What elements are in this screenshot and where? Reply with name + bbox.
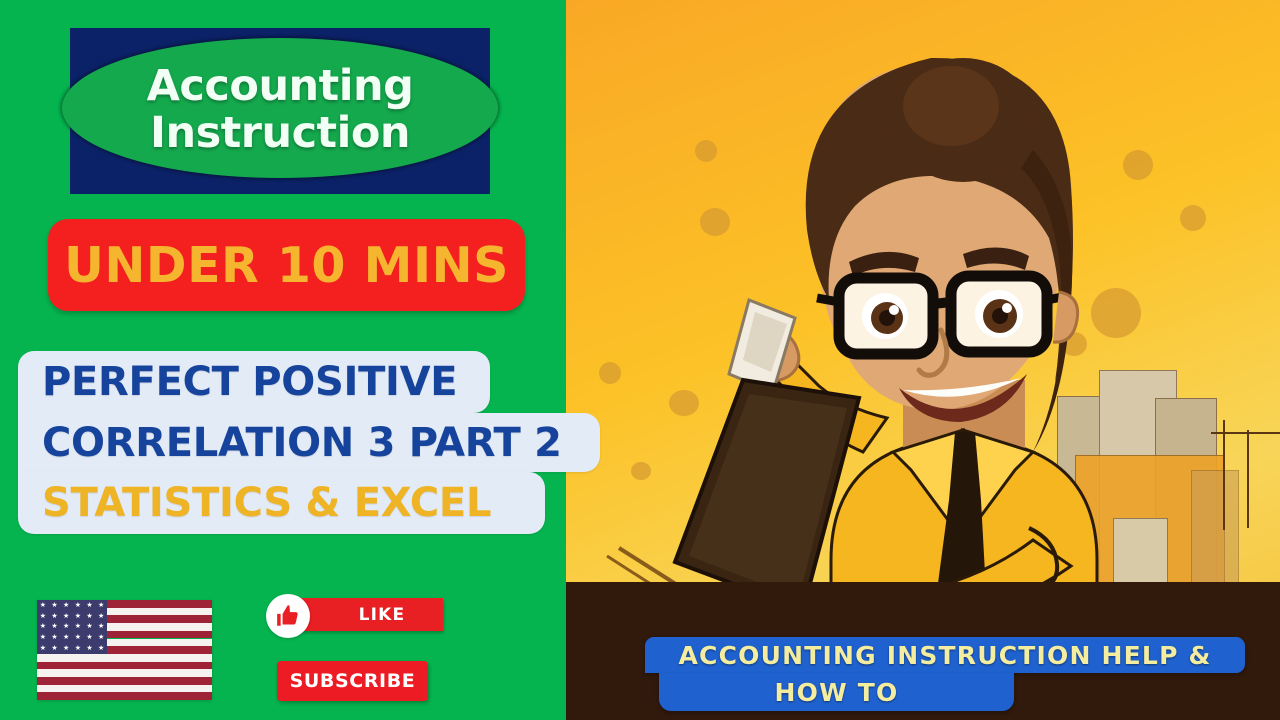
- flag-star: ★: [75, 645, 81, 652]
- subscribe-button[interactable]: SUBSCRIBE: [277, 661, 428, 701]
- title-line-1: PERFECT POSITIVE: [42, 359, 457, 405]
- flag-star: ★: [63, 602, 69, 609]
- flag-star: ★: [75, 613, 81, 620]
- flag-star: ★: [51, 613, 57, 620]
- flag-star: ★: [86, 634, 92, 641]
- thumbnail-canvas: Accounting Instruction UNDER 10 MINS PER…: [0, 0, 1280, 720]
- title-line-3: STATISTICS & EXCEL: [42, 480, 491, 526]
- flag-star: ★: [51, 634, 57, 641]
- channel-tagline-banner: ACCOUNTING INSTRUCTION HELP & HOW TO: [645, 637, 1245, 711]
- tagline-line-2: HOW TO: [775, 678, 899, 707]
- flag-star: ★: [98, 602, 104, 609]
- video-title-card: PERFECT POSITIVE CORRELATION 3 PART 2 ST…: [18, 351, 600, 534]
- flag-star: ★: [86, 602, 92, 609]
- flag-star: ★: [51, 602, 57, 609]
- flag-star: ★: [75, 623, 81, 630]
- flag-star: ★: [63, 613, 69, 620]
- flag-star: ★: [75, 602, 81, 609]
- flag-star: ★: [75, 634, 81, 641]
- united-states-flag-icon: ★★★★★★ ★★★★★★ ★★★★★★ ★★★★★★ ★★★★★★: [37, 600, 212, 700]
- flag-star: ★: [40, 645, 46, 652]
- flag-star: ★: [98, 634, 104, 641]
- flag-star: ★: [86, 623, 92, 630]
- flag-star: ★: [63, 645, 69, 652]
- flag-star: ★: [86, 613, 92, 620]
- flag-star: ★: [63, 623, 69, 630]
- title-line-1-row: PERFECT POSITIVE: [18, 351, 490, 413]
- tagline-line-1: ACCOUNTING INSTRUCTION HELP &: [679, 641, 1212, 670]
- flag-star: ★: [98, 623, 104, 630]
- flag-star: ★: [40, 613, 46, 620]
- thumbs-up-glyph: [275, 603, 301, 629]
- channel-logo-line-1: Accounting: [147, 64, 414, 109]
- artwork-illustration: [563, 0, 1280, 720]
- title-line-3-row: STATISTICS & EXCEL: [18, 472, 545, 534]
- duration-badge: UNDER 10 MINS: [48, 219, 525, 311]
- flag-star: ★: [40, 602, 46, 609]
- flag-star: ★: [98, 645, 104, 652]
- subscribe-button-label: SUBSCRIBE: [290, 670, 416, 692]
- title-line-2-row: CORRELATION 3 PART 2: [18, 413, 600, 472]
- like-button[interactable]: LIKE: [266, 594, 446, 638]
- title-line-2: CORRELATION 3 PART 2: [42, 420, 562, 466]
- channel-logo: Accounting Instruction: [62, 36, 498, 184]
- duration-badge-label: UNDER 10 MINS: [64, 237, 509, 294]
- like-button-bar[interactable]: LIKE: [291, 598, 443, 631]
- flag-canton: ★★★★★★ ★★★★★★ ★★★★★★ ★★★★★★ ★★★★★★: [37, 600, 107, 654]
- flag-star: ★: [98, 613, 104, 620]
- flag-star: ★: [63, 634, 69, 641]
- flag-star: ★: [51, 623, 57, 630]
- tagline-row-2: HOW TO: [659, 673, 1014, 711]
- flag-star: ★: [40, 634, 46, 641]
- like-button-label: LIKE: [359, 605, 406, 625]
- flag-star: ★: [40, 623, 46, 630]
- channel-logo-line-2: Instruction: [150, 111, 410, 156]
- thumbs-up-icon[interactable]: [266, 594, 310, 638]
- tagline-row-1: ACCOUNTING INSTRUCTION HELP &: [645, 637, 1245, 673]
- flag-star: ★: [51, 645, 57, 652]
- flag-star: ★: [86, 645, 92, 652]
